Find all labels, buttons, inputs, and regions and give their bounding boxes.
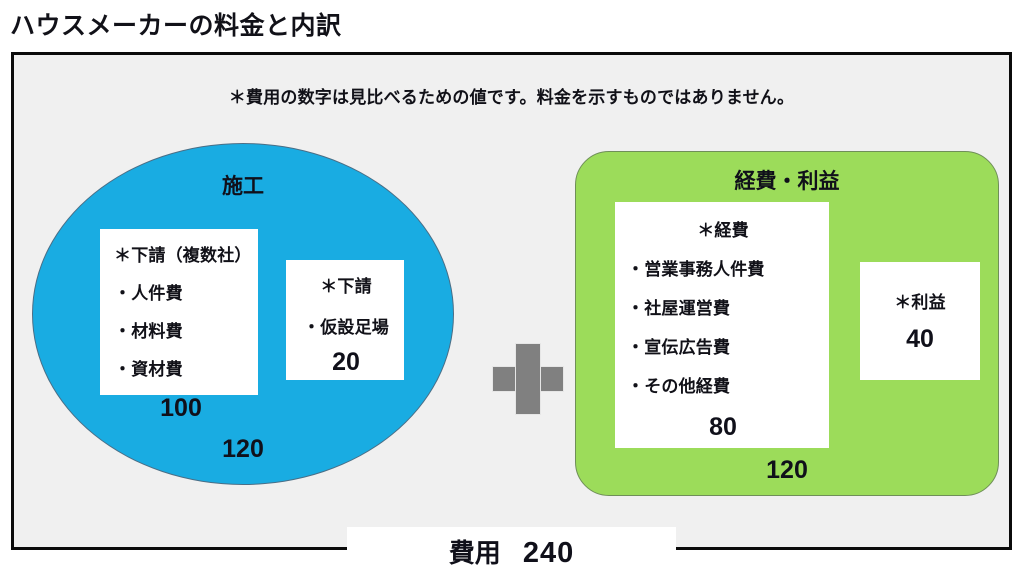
construction-title: 施工 (33, 170, 453, 200)
cost-total-label: 費用 (449, 533, 501, 570)
subcontract-multi-line-1: ・人件費 (114, 279, 248, 304)
cost-total-banner: 費用 240 (347, 527, 676, 576)
subcontract-multi-heading: ＊下請（複数社） (114, 241, 248, 266)
expenses-heading: ＊経費 (627, 216, 819, 241)
construction-group: 施工 ＊下請（複数社） ・人件費 ・材料費 ・資材費 100 ＊下請 ・仮設足場… (32, 143, 454, 485)
profit-heading: ＊利益 (894, 288, 946, 313)
expenses-profit-title: 経費・利益 (576, 165, 998, 195)
construction-total: 120 (33, 435, 453, 464)
subcontract-scaffold-card: ＊下請 ・仮設足場 20 (286, 260, 404, 380)
expenses-line-1: ・営業事務人件費 (627, 255, 819, 280)
subcontract-scaffold-line-1: ・仮設足場 (296, 313, 396, 338)
expenses-profit-total: 120 (576, 456, 998, 485)
page-title: ハウスメーカーの料金と内訳 (10, 6, 342, 42)
diagram-frame: ＊費用の数字は見比べるための値です。料金を示すものではありません。 施工 ＊下請… (11, 52, 1012, 550)
subcontract-multi-card: ＊下請（複数社） ・人件費 ・材料費 ・資材費 100 (100, 229, 258, 395)
subcontract-multi-line-2: ・材料費 (114, 317, 248, 342)
plus-icon (492, 343, 564, 415)
cost-total-value: 240 (523, 537, 574, 570)
profit-card: ＊利益 40 (860, 262, 980, 380)
expenses-card: ＊経費 ・営業事務人件費 ・社屋運営費 ・宣伝広告費 ・その他経費 80 (615, 202, 829, 448)
subcontract-scaffold-amount: 20 (296, 348, 396, 377)
subcontract-scaffold-heading: ＊下請 (296, 272, 396, 297)
expenses-line-3: ・宣伝広告費 (627, 333, 819, 358)
expenses-profit-group: 経費・利益 ＊経費 ・営業事務人件費 ・社屋運営費 ・宣伝広告費 ・その他経費 … (575, 151, 999, 496)
cost-total-inner: 費用 240 (449, 533, 574, 570)
note-text: ＊費用の数字は見比べるための値です。料金を示すものではありません。 (14, 83, 1009, 108)
expenses-amount: 80 (627, 413, 819, 442)
plus-icon-vertical-bar (515, 343, 541, 415)
profit-amount: 40 (906, 325, 934, 354)
subcontract-multi-amount: 100 (114, 394, 248, 423)
expenses-line-4: ・その他経費 (627, 372, 819, 397)
expenses-line-2: ・社屋運営費 (627, 294, 819, 319)
subcontract-multi-line-3: ・資材費 (114, 355, 248, 380)
